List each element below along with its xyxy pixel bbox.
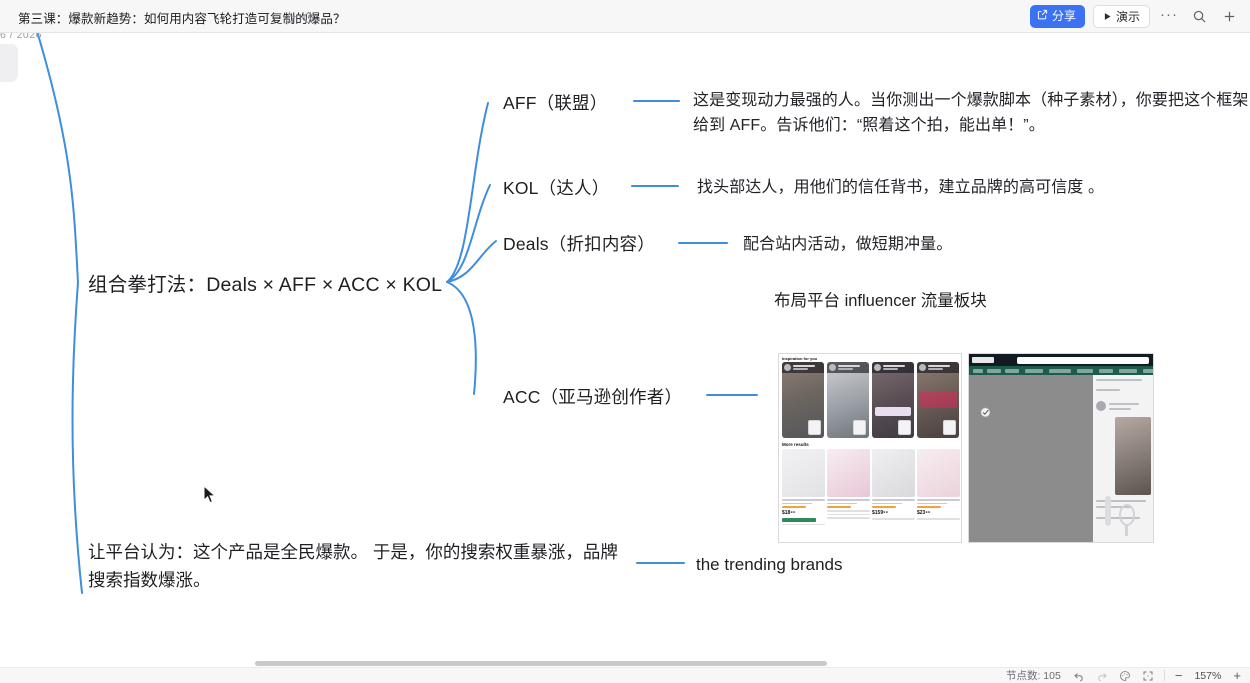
product-price: $18⁹⁹	[782, 510, 825, 516]
branch-label-aff[interactable]: AFF（联盟）	[503, 90, 607, 117]
more-menu-button[interactable]: ···	[1158, 6, 1180, 28]
amazon-header	[969, 354, 1153, 366]
share-button[interactable]: 分享	[1030, 5, 1085, 28]
zoom-level-label[interactable]: 157%	[1192, 670, 1223, 682]
redo-icon[interactable]	[1095, 669, 1109, 682]
share-external-icon	[1037, 9, 1048, 24]
zoom-out-button[interactable]: −	[1174, 671, 1184, 681]
statusbar-divider	[1164, 670, 1165, 681]
amazon-logo	[972, 357, 994, 363]
present-label: 演示	[1116, 10, 1140, 24]
search-icon[interactable]	[1188, 6, 1210, 28]
screenshot-amazon-influencer[interactable]	[968, 353, 1154, 543]
product-card[interactable]	[827, 449, 870, 525]
product-price: $159⁹⁹	[872, 510, 915, 516]
share-label: 分享	[1052, 9, 1076, 24]
fit-screen-icon[interactable]	[1141, 669, 1155, 682]
image-caption[interactable]: 布局平台 influencer 流量板块	[774, 289, 987, 315]
node-count-label: 节点数: 105	[1006, 668, 1061, 683]
branch-label-acc[interactable]: ACC（亚马逊创作者）	[503, 384, 682, 411]
document-title[interactable]: 第三课：爆款新趋势：如何用内容飞轮打造可复制的爆品？	[18, 8, 346, 27]
horizontal-scrollbar-thumb[interactable]	[255, 661, 827, 666]
branch-label-deals[interactable]: Deals（折扣内容）	[503, 231, 655, 258]
branch-desc-deals[interactable]: 配合站内活动，做短期冲量。	[743, 233, 952, 258]
product-card-row: $18⁹⁹ $159⁹⁹ $23⁹⁹	[779, 449, 961, 525]
video-card-row	[779, 362, 961, 438]
more-label: ···	[1160, 6, 1178, 28]
video-card[interactable]	[872, 362, 914, 438]
video-card[interactable]	[782, 362, 824, 438]
more-results-heading: More results	[779, 438, 961, 449]
branch-desc-aff[interactable]: 这是变现动力最强的人。当你测出一个爆款脚本（种子素材），你要把这个框架给到 AF…	[693, 88, 1250, 139]
window-titlebar: 第三课：爆款新趋势：如何用内容飞轮打造可复制的爆品？ 分享	[0, 0, 1250, 33]
video-card[interactable]	[827, 362, 869, 438]
product-price: $23⁹⁹	[917, 510, 960, 516]
play-icon	[1103, 10, 1112, 24]
left-panel-stub[interactable]	[0, 44, 18, 82]
inspiration-heading: Inspiration for you	[779, 354, 961, 362]
mouse-cursor	[203, 485, 217, 509]
shop-my-favorites-panel[interactable]	[1093, 375, 1153, 542]
zoom-in-button[interactable]: +	[1232, 671, 1242, 681]
shield-icon[interactable]	[302, 11, 315, 24]
branch-label-trending-brands[interactable]: the trending brands	[696, 552, 843, 578]
present-button[interactable]: 演示	[1093, 5, 1150, 28]
titlebar-actions: 分享 演示 ···	[1030, 5, 1240, 28]
product-card[interactable]: $18⁹⁹	[782, 449, 825, 525]
branch-label-kol[interactable]: KOL（达人）	[503, 175, 609, 202]
amazon-nav	[969, 366, 1153, 375]
undo-icon[interactable]	[1072, 669, 1086, 682]
palette-icon[interactable]	[1118, 669, 1132, 682]
loading-cursor-icon	[979, 406, 993, 420]
mindmap-canvas[interactable]: 组合拳打法：Deals × AFF × ACC × KOL AFF（联盟） 这是…	[0, 33, 1250, 668]
amazon-search-bar[interactable]	[1017, 357, 1149, 364]
branch-desc-kol[interactable]: 找头部达人，用他们的信任背书，建立品牌的高可信度 。	[697, 176, 1104, 201]
statusbar: 节点数: 105 − 157% +	[0, 667, 1250, 683]
mindmap-bottom-node[interactable]: 让平台认为：这个产品是全民爆款。 于是，你的搜索权重暴涨，品牌搜索指数爆涨。	[88, 538, 628, 595]
product-card[interactable]: $23⁹⁹	[917, 449, 960, 525]
plus-icon[interactable]	[1218, 6, 1240, 28]
video-card[interactable]	[917, 362, 959, 438]
product-card[interactable]: $159⁹⁹	[872, 449, 915, 525]
star-icon[interactable]	[283, 11, 296, 24]
mindmap-root-node[interactable]: 组合拳打法：Deals × AFF × ACC × KOL	[88, 270, 442, 300]
screenshot-amazon-inspiration[interactable]: Inspiration for you More results	[778, 353, 962, 543]
